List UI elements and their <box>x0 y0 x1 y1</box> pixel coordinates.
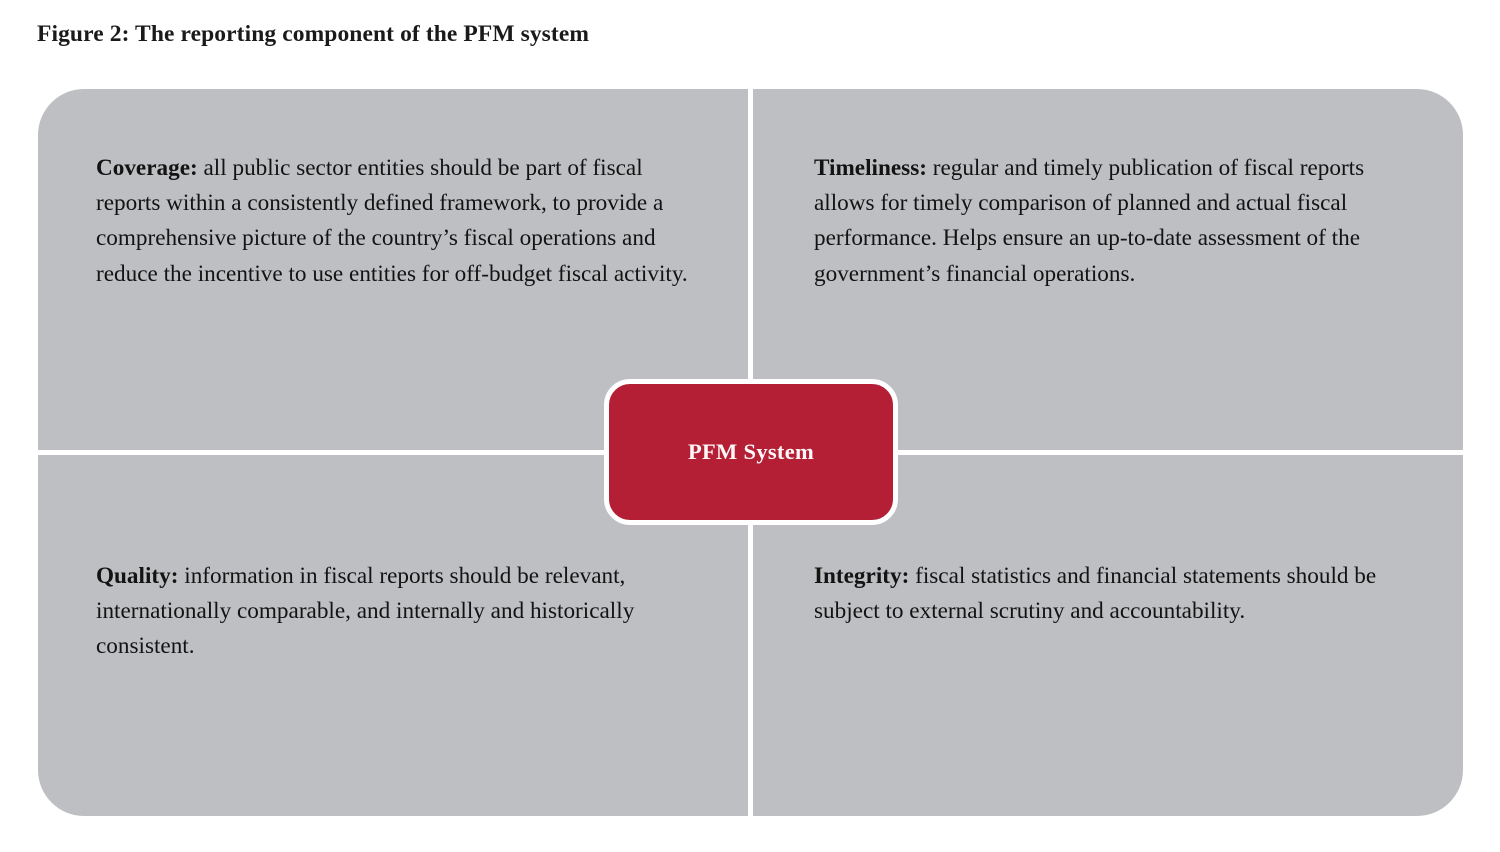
figure-container: Figure 2: The reporting component of the… <box>0 0 1500 852</box>
figure-title: Figure 2: The reporting component of the… <box>37 21 589 48</box>
quadrant-integrity-text: Integrity: fiscal statistics and financi… <box>814 559 1422 629</box>
quadrant-integrity-label: Integrity: <box>814 563 909 589</box>
center-node-label: PFM System <box>688 439 814 465</box>
quadrant-coverage-text: Coverage: all public sector entities sho… <box>96 151 696 292</box>
quadrant-coverage-label: Coverage: <box>96 155 198 181</box>
center-node-pfm-system: PFM System <box>604 379 898 525</box>
quadrant-quality-label: Quality: <box>96 563 178 589</box>
quadrant-timeliness-text: Timeliness: regular and timely publicati… <box>814 151 1422 292</box>
quadrant-quality-text: Quality: information in fiscal reports s… <box>96 559 696 665</box>
quadrant-timeliness-label: Timeliness: <box>814 155 927 181</box>
